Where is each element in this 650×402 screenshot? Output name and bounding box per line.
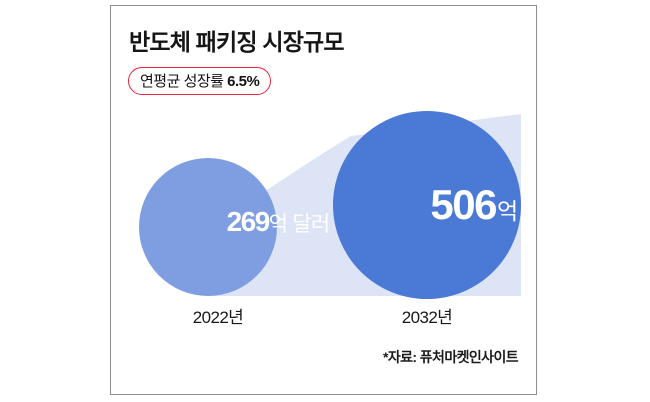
axis-label-2032: 2032년 [357, 303, 497, 328]
bubble-2022 [139, 158, 277, 296]
bubble-2032 [333, 111, 521, 299]
source-note: *자료: 퓨처마켓인사이트 [383, 347, 518, 367]
bubble-chart-graphics [111, 6, 537, 395]
infographic-card: 반도체 패키징 시장규모 연평균 성장률 6.5% 269억 달러 506억 달… [110, 5, 537, 395]
infographic-viewport: 반도체 패키징 시장규모 연평균 성장률 6.5% 269억 달러 506억 달… [0, 0, 650, 402]
axis-label-2022: 2022년 [148, 303, 288, 328]
bubble-chart: 269억 달러 506억 달러 2022년 2032년 [111, 6, 537, 395]
